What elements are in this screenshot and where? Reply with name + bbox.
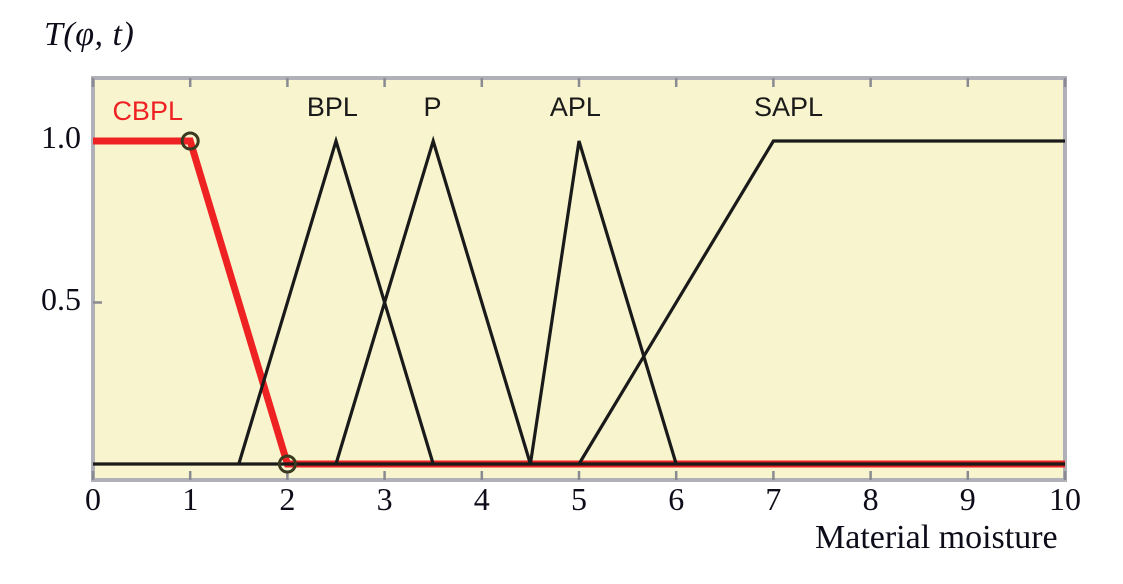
x-tick-label: 8 <box>841 481 901 518</box>
series-label-cbpl: CBPL <box>112 96 183 127</box>
x-tick-label: 0 <box>63 481 123 518</box>
series-label-sapl: SAPL <box>754 92 823 123</box>
x-tick-label: 1 <box>160 481 220 518</box>
x-tick-label: 6 <box>646 481 706 518</box>
x-tick-label: 9 <box>938 481 998 518</box>
y-axis-title: T(φ, t) <box>44 16 134 54</box>
plot-background <box>93 78 1065 480</box>
x-tick-label: 10 <box>1035 481 1095 518</box>
series-label-bpl: BPL <box>307 92 358 123</box>
x-tick-label: 3 <box>355 481 415 518</box>
x-axis-title: Material moisture <box>815 519 1058 557</box>
y-tick-label: 1.0 <box>1 119 81 156</box>
series-label-apl: APL <box>550 92 601 123</box>
x-tick-label: 7 <box>743 481 803 518</box>
x-tick-label: 5 <box>549 481 609 518</box>
x-tick-label: 2 <box>257 481 317 518</box>
series-label-p: P <box>423 92 441 123</box>
y-axis-title-text: T(φ, t) <box>44 16 134 53</box>
y-tick-label: 0.5 <box>1 281 81 318</box>
x-axis-title-text: Material moisture <box>815 519 1058 556</box>
x-tick-label: 4 <box>452 481 512 518</box>
figure-root: T(φ, t) Material moisture 0.51.0 0123456… <box>0 0 1123 584</box>
